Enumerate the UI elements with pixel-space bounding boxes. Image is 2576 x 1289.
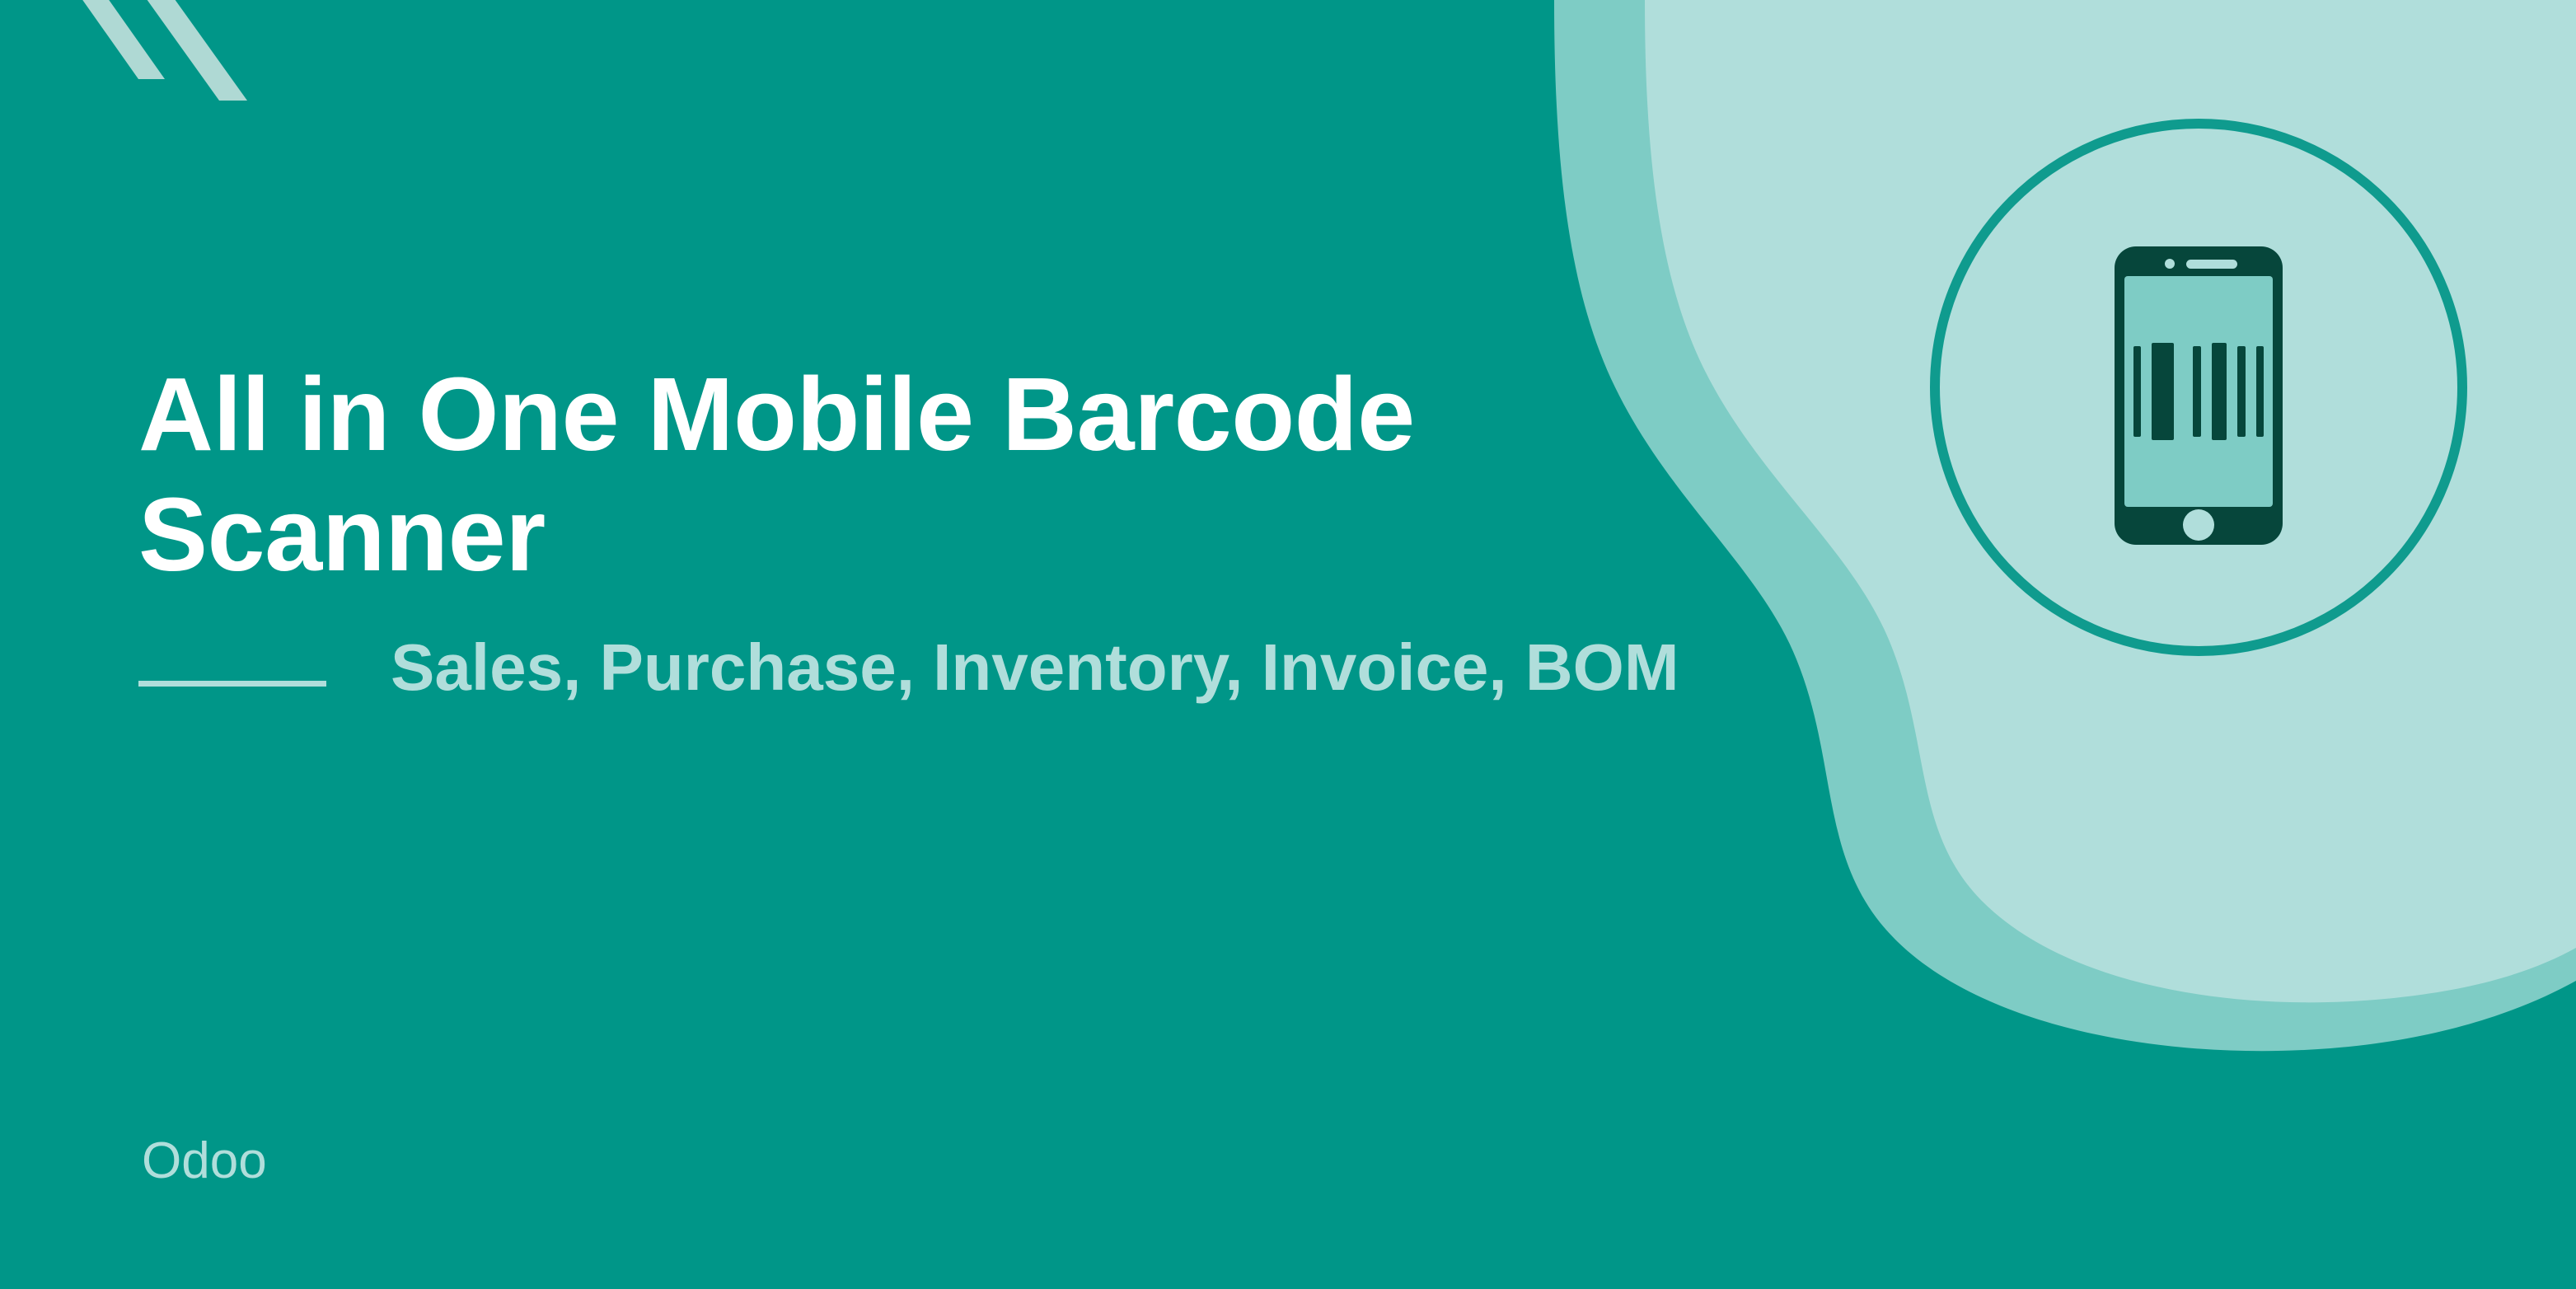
page-title: All in One Mobile Barcode Scanner (138, 354, 1729, 595)
barcode-bar-3 (2193, 346, 2201, 437)
phone-home-button (2183, 509, 2214, 541)
barcode-bar-4 (2212, 343, 2227, 440)
barcode-bar-1 (2133, 346, 2141, 437)
subtitle-row: Sales, Purchase, Inventory, Invoice, BOM (138, 626, 1754, 710)
subtitle-divider (138, 681, 326, 687)
diagonal-stripes-icon (0, 0, 346, 214)
brand-label: Odoo (142, 1136, 267, 1187)
barcode-bar-6 (2256, 346, 2264, 437)
headline-block: All in One Mobile Barcode Scanner Sales,… (138, 354, 1754, 710)
smartphone-icon (2115, 246, 2283, 545)
page-subtitle: Sales, Purchase, Inventory, Invoice, BOM (391, 626, 1679, 710)
diagonal-stripe-1 (59, 0, 165, 79)
barcode-icon (2133, 343, 2264, 440)
barcode-bar-5 (2237, 346, 2246, 437)
slide-canvas: All in One Mobile Barcode Scanner Sales,… (0, 0, 2576, 1289)
phone-speaker (2186, 260, 2237, 269)
mobile-barcode-scanner-icon (1923, 111, 2475, 663)
barcode-bar-2 (2152, 343, 2174, 440)
phone-camera-dot (2165, 259, 2175, 269)
diagonal-stripe-2 (124, 0, 247, 101)
